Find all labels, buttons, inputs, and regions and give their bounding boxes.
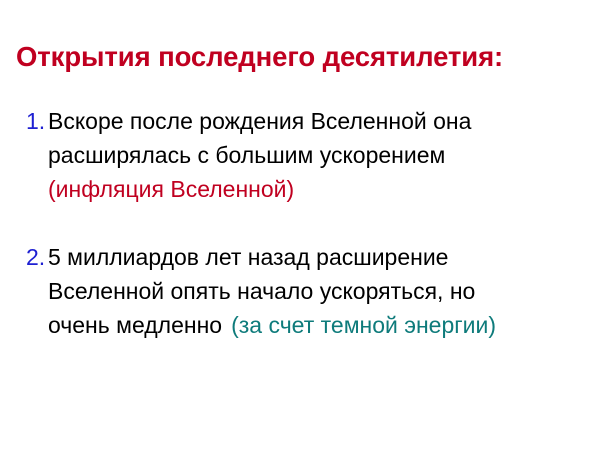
list-item-2-line-1: 5 миллиардов лет назад расширение bbox=[48, 240, 600, 274]
page-title: Открытия последнего десятилетия: bbox=[16, 40, 584, 74]
list-item-1-body: Вскоре после рождения Вселенной она расш… bbox=[48, 104, 600, 206]
list-item-2-line-2: Вселенной опять начало ускоряться, но bbox=[48, 274, 600, 308]
list-item-1-line-1: Вскоре после рождения Вселенной она bbox=[48, 104, 600, 138]
list-item-1-accent-line: (инфляция Вселенной) bbox=[48, 172, 600, 206]
list-item-1-line-2: расширялась с большим ускорением bbox=[48, 138, 600, 172]
list-item-2: 2. 5 миллиардов лет назад расширение Все… bbox=[0, 240, 600, 342]
list-item-1-marker: 1. bbox=[26, 104, 45, 138]
list-item-2-line-3: очень медленно(за счет темной энергии) bbox=[48, 308, 600, 342]
list-item-2-marker: 2. bbox=[26, 240, 45, 274]
bullet-list: 1. Вскоре после рождения Вселенной она р… bbox=[0, 104, 600, 376]
list-item-2-accent-text: (за счет темной энергии) bbox=[231, 312, 496, 338]
list-item-2-body: 5 миллиардов лет назад расширение Вселен… bbox=[48, 240, 600, 342]
slide-canvas: Открытия последнего десятилетия: 1. Вско… bbox=[0, 0, 600, 450]
list-item-1: 1. Вскоре после рождения Вселенной она р… bbox=[0, 104, 600, 206]
list-item-2-line-3-plain: очень медленно bbox=[48, 312, 222, 338]
